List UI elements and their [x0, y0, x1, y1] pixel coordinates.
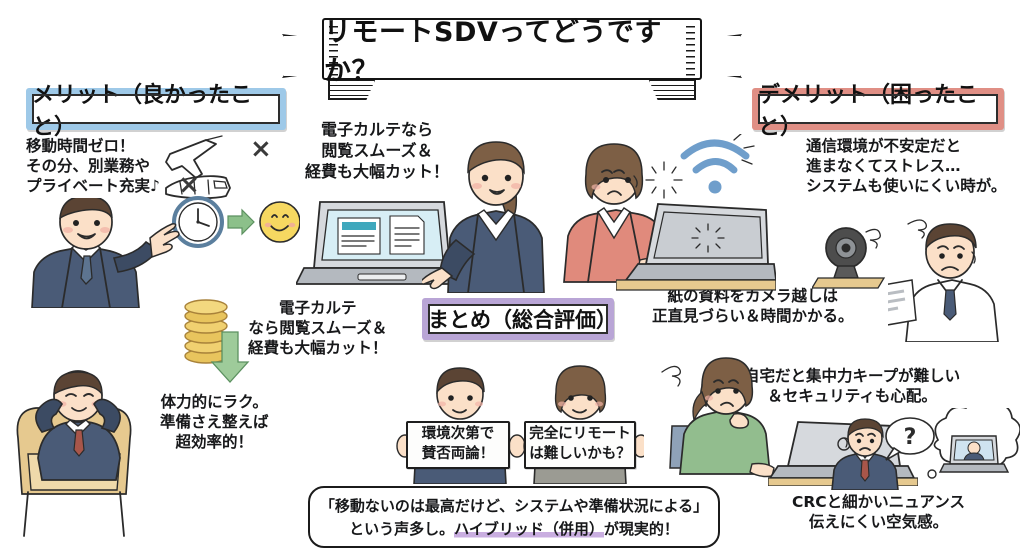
section-badge-demerit: デメリット（困ったこと） — [752, 88, 1004, 130]
placard-full-remote-line2: は難しいかも？ — [529, 445, 631, 465]
note-network-unstable: 通信環境が不安定だと 進まなくてストレス… システムも使いにくい時が。 — [806, 136, 1006, 196]
wifi-icon — [672, 134, 758, 204]
conclusion-line-2-pre: という声多し。 — [349, 520, 454, 538]
person-businessman-smiling — [10, 198, 200, 308]
note-crc-nuance: CRCと細かいニュアンス 伝えにくい空気感。 — [792, 492, 965, 532]
placard-pro-con: 環境次第で 賛否両論！ — [406, 421, 510, 469]
person-woman-pointing — [422, 128, 562, 293]
burst-icon — [644, 160, 684, 200]
cross-icon-plane: × — [250, 136, 272, 162]
person-relaxed-in-chair — [8, 362, 168, 552]
note-physical-ease: 体力的にラク。 準備さえ整えば 超効率的！ — [160, 392, 269, 452]
placard-pro-con-line2: 賛否両論！ — [422, 445, 495, 465]
placard-full-remote-line1: 完全にリモート — [529, 425, 631, 445]
conclusion-highlight: ハイブリッド（併用） — [454, 520, 604, 538]
webcam-icon — [812, 222, 888, 290]
laptop-loading — [616, 200, 776, 292]
section-badge-merit: メリット（良かったこと） — [26, 88, 286, 130]
placard-full-remote: 完全にリモート は難しいかも？ — [524, 421, 636, 469]
note-e-chart-cost: 電子カルテ なら閲覧スムーズ＆ 経費も大幅カット！ — [248, 298, 388, 358]
note-travel-zero: 移動時間ゼロ！ その分、別業務や プライベート充実♪ — [26, 136, 160, 196]
person-man-with-paper — [888, 218, 1018, 342]
banner-plate: リモートSDVってどうですか？ — [322, 18, 702, 80]
section-badge-summary: まとめ（総合評価） — [422, 298, 614, 340]
page-title: リモートSDVってどうですか？ — [324, 20, 700, 78]
conclusion-line-2-post: が現実的！ — [604, 520, 679, 538]
conclusion-line-2: という声多し。ハイブリッド（併用）が現実的！ — [349, 518, 679, 539]
placard-pro-con-line1: 環境次第で — [422, 425, 495, 445]
conclusion-line-1: 「移動ないのは最高だけど、システムや準備状況による」 — [320, 495, 708, 516]
conclusion-bubble: 「移動ないのは最高だけど、システムや準備状況による」 という声多し。ハイブリッド… — [308, 486, 720, 548]
title-banner: リモートSDVってどうですか？ — [282, 8, 742, 88]
infographic-canvas: リモートSDVってどうですか？ メリット（良かったこと） デメリット（困ったこと… — [0, 0, 1024, 559]
arrow-down-icon — [208, 330, 252, 386]
question-mark-icon: ? — [904, 425, 917, 450]
note-paper-via-camera: 紙の資料をカメラ越しは 正直見づらい＆時間かかる。 — [652, 286, 854, 326]
arrow-right-icon — [228, 210, 254, 234]
thought-bubble-video-call — [924, 408, 1020, 492]
smiley-face-icon — [260, 202, 300, 242]
